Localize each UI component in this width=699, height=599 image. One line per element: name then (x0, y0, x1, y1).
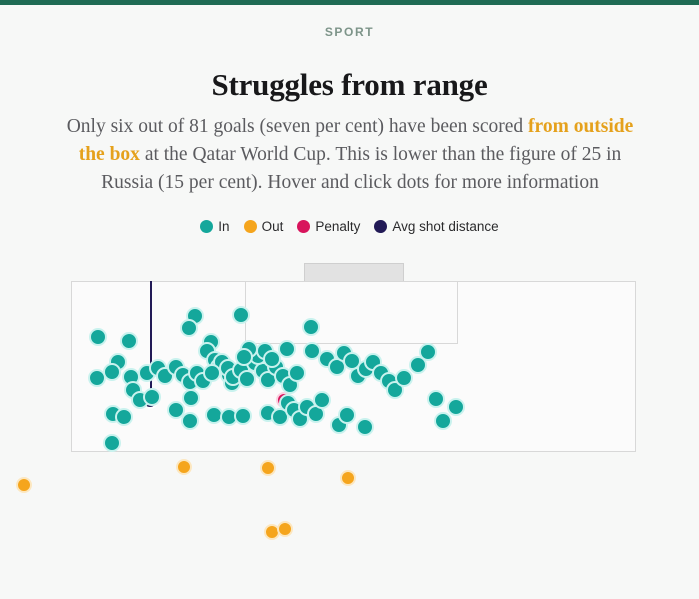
shot-dot-in[interactable] (395, 369, 413, 387)
pitch-diagram (0, 255, 699, 555)
shot-dot-in[interactable] (182, 389, 200, 407)
legend-label-out: Out (262, 219, 284, 234)
shot-dot-in[interactable] (181, 412, 199, 430)
shot-dot-out[interactable] (277, 521, 293, 537)
avg-shot-distance-line (150, 281, 152, 401)
shot-dot-in[interactable] (419, 343, 437, 361)
legend-swatch-penalty-icon (297, 220, 310, 233)
legend-item-avg[interactable]: Avg shot distance (374, 219, 498, 234)
legend-item-in[interactable]: In (200, 219, 229, 234)
shot-dot-in[interactable] (313, 391, 331, 409)
shot-dot-out[interactable] (16, 477, 32, 493)
chart-legend: InOutPenaltyAvg shot distance (0, 219, 699, 234)
shot-dot-in[interactable] (234, 407, 252, 425)
shot-dot-in[interactable] (356, 418, 374, 436)
standfirst-text: Only six out of 81 goals (seven per cent… (60, 113, 640, 197)
infographic-page: SPORT Struggles from range Only six out … (0, 0, 699, 599)
shot-dot-in[interactable] (288, 364, 306, 382)
shot-dot-in[interactable] (434, 412, 452, 430)
shot-dot-in[interactable] (180, 319, 198, 337)
legend-label-in: In (218, 219, 229, 234)
legend-item-out[interactable]: Out (244, 219, 284, 234)
shot-dot-in[interactable] (89, 328, 107, 346)
shot-dot-in[interactable] (263, 350, 281, 368)
shot-dot-in[interactable] (103, 434, 121, 452)
shot-dot-out[interactable] (176, 459, 192, 475)
shot-dot-in[interactable] (302, 318, 320, 336)
shot-dot-in[interactable] (143, 388, 161, 406)
shot-dot-in[interactable] (115, 408, 133, 426)
top-accent-bar (0, 0, 699, 5)
shot-dot-in[interactable] (235, 348, 253, 366)
shot-dot-out[interactable] (340, 470, 356, 486)
legend-label-penalty: Penalty (315, 219, 360, 234)
page-title: Struggles from range (0, 67, 699, 103)
shot-dot-in[interactable] (120, 332, 138, 350)
shot-dot-in[interactable] (427, 390, 445, 408)
goal-rectangle (304, 263, 404, 283)
shot-dot-in[interactable] (232, 306, 250, 324)
shot-dot-in[interactable] (103, 363, 121, 381)
standfirst-part1: Only six out of 81 goals (seven per cent… (67, 116, 528, 137)
shot-dot-in[interactable] (278, 340, 296, 358)
shot-dot-in[interactable] (447, 398, 465, 416)
legend-label-avg: Avg shot distance (392, 219, 498, 234)
legend-swatch-in-icon (200, 220, 213, 233)
legend-swatch-avg-icon (374, 220, 387, 233)
standfirst-part2: at the Qatar World Cup. This is lower th… (101, 144, 621, 193)
penalty-box-outline (245, 281, 458, 344)
legend-item-penalty[interactable]: Penalty (297, 219, 360, 234)
shot-dot-out[interactable] (260, 460, 276, 476)
legend-swatch-out-icon (244, 220, 257, 233)
section-kicker: SPORT (0, 25, 699, 39)
shot-dot-in[interactable] (338, 406, 356, 424)
